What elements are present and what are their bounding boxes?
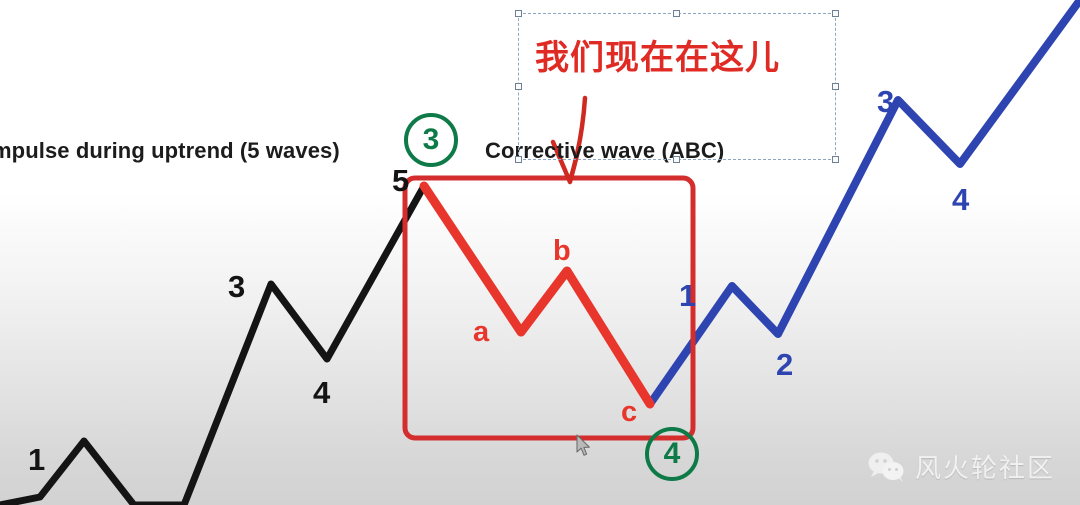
next-wave-label-4: 4	[952, 184, 969, 215]
wave-label-5: 5	[392, 165, 409, 196]
resize-handle-middle-right[interactable]	[832, 83, 839, 90]
next-wave-label-1: 1	[679, 280, 696, 311]
resize-handle-bottom-left[interactable]	[515, 156, 522, 163]
wave-label-4: 4	[313, 377, 330, 408]
annotation-text[interactable]: 我们现在在这儿	[535, 30, 780, 79]
wave-label-3: 3	[228, 271, 245, 302]
impulse-wave-path	[0, 186, 424, 505]
resize-handle-bottom-middle[interactable]	[673, 156, 680, 163]
mouse-cursor-icon	[576, 434, 592, 458]
wave-label-a: a	[473, 318, 489, 347]
slide-canvas: 1 3 4 5 a b c 1 2 3 4 3 4 mpulse during …	[0, 0, 1080, 505]
resize-handle-middle-left[interactable]	[515, 83, 522, 90]
wechat-icon	[868, 452, 906, 482]
wave-label-c: c	[621, 398, 637, 427]
degree-marker-3: 3	[404, 113, 458, 167]
wave-label-b: b	[553, 237, 571, 266]
resize-handle-top-left[interactable]	[515, 10, 522, 17]
next-wave-label-3: 3	[877, 86, 894, 117]
corrective-wave-path	[424, 186, 650, 404]
wave-label-1: 1	[28, 444, 45, 475]
watermark-text: 风火轮社区	[915, 448, 1055, 485]
resize-handle-top-right[interactable]	[832, 10, 839, 17]
impulse-caption: mpulse during uptrend (5 waves)	[0, 140, 340, 162]
next-wave-label-2: 2	[776, 349, 793, 380]
degree-marker-4-text: 4	[664, 439, 681, 469]
resize-handle-bottom-right[interactable]	[832, 156, 839, 163]
degree-marker-3-text: 3	[423, 125, 440, 155]
degree-marker-4: 4	[645, 427, 699, 481]
resize-handle-top-middle[interactable]	[673, 10, 680, 17]
watermark: 风火轮社区	[868, 448, 1055, 485]
